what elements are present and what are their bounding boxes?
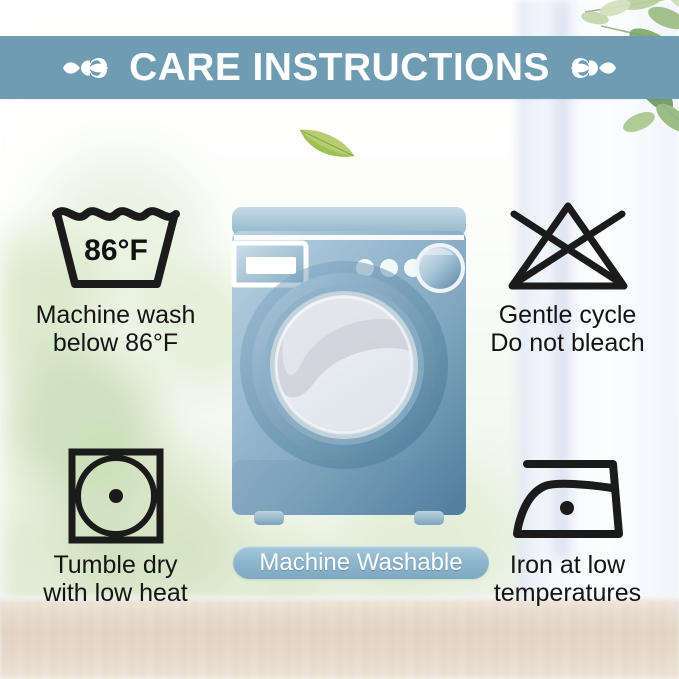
tumble-dry-low-icon [8, 446, 223, 546]
care-item-machine-wash: 86°F Machine wash below 86°F [8, 196, 223, 357]
wash-tub-icon: 86°F [8, 196, 223, 296]
page-title: CARE INSTRUCTIONS [129, 48, 550, 87]
status-badge-label: Machine Washable [259, 551, 462, 575]
machine-foot [414, 511, 444, 525]
care-item-gentle-cycle-no-bleach: Gentle cycle Do not bleach [460, 196, 675, 357]
care-item-tumble-dry: Tumble dry with low heat [8, 446, 223, 607]
care-item-caption: Machine wash below 86°F [8, 302, 223, 357]
wash-temperature-label: 86°F [84, 234, 148, 267]
do-not-bleach-triangle-icon [460, 196, 675, 296]
status-badge: Machine Washable [233, 546, 489, 579]
iron-low-icon [460, 446, 675, 546]
fleur-de-lis-icon-left [59, 47, 113, 89]
care-item-iron-low: Iron at low temperatures [460, 446, 675, 607]
single-green-leaf-icon [296, 120, 358, 164]
care-item-caption: Tumble dry with low heat [8, 552, 223, 607]
care-instructions-infographic: CARE INSTRUCTIONS 86°F Machine wash bel [0, 0, 679, 679]
header-banner: CARE INSTRUCTIONS [0, 36, 679, 99]
fleur-de-lis-icon-right [566, 47, 620, 89]
wood-table-surface [0, 601, 679, 679]
washing-machine-illustration [224, 205, 474, 540]
care-item-caption: Gentle cycle Do not bleach [460, 302, 675, 357]
machine-foot [254, 511, 284, 525]
care-item-caption: Iron at low temperatures [460, 552, 675, 607]
